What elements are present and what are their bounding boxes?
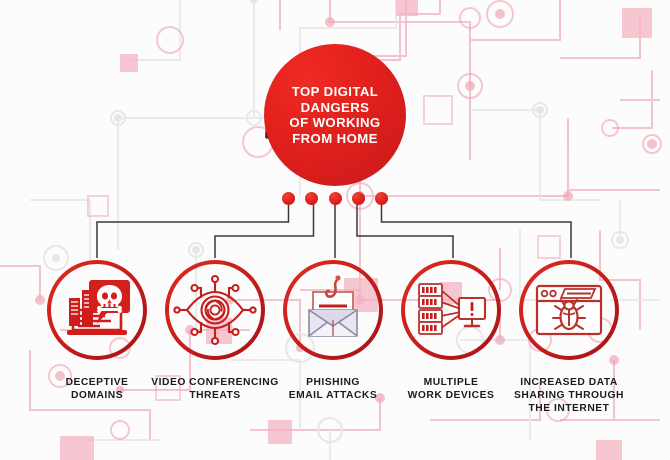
connector-line-4 bbox=[357, 203, 453, 258]
connector-dot-4 bbox=[352, 192, 365, 205]
node-video-conferencing-threats[interactable]: VIDEO CONFERENCING THREATS bbox=[163, 258, 267, 402]
connector-dot-3 bbox=[329, 192, 342, 205]
servers-monitor-alert-icon bbox=[419, 284, 485, 334]
eye-circuit-icon bbox=[179, 282, 251, 338]
connector-dot-5 bbox=[375, 192, 388, 205]
hero-title: TOP DIGITAL DANGERS OF WORKING FROM HOME bbox=[282, 84, 387, 146]
connector-line-1 bbox=[97, 203, 289, 258]
node-phishing-email-attacks[interactable]: PHISHING EMAIL ATTACKS bbox=[281, 258, 385, 402]
node-circle-3 bbox=[281, 258, 385, 362]
envelope-fishhook-icon bbox=[309, 275, 357, 336]
connector-line-5 bbox=[382, 203, 572, 258]
node-circle-2 bbox=[163, 258, 267, 362]
hero-circle: TOP DIGITAL DANGERS OF WORKING FROM HOME bbox=[264, 44, 406, 186]
node-circle-5 bbox=[517, 258, 621, 362]
hero-disc: TOP DIGITAL DANGERS OF WORKING FROM HOME bbox=[264, 44, 406, 186]
node-label-1: DECEPTIVE DOMAINS bbox=[45, 376, 149, 402]
hero-title-line-1: TOP DIGITAL bbox=[289, 84, 380, 100]
node-label-4: MULTIPLE WORK DEVICES bbox=[391, 376, 511, 402]
connector-dot-1 bbox=[282, 192, 295, 205]
connector-dot-2 bbox=[305, 192, 318, 205]
node-multiple-work-devices[interactable]: MULTIPLE WORK DEVICES bbox=[399, 258, 503, 402]
connector-line-2 bbox=[215, 203, 314, 258]
browser-bug-icon bbox=[537, 286, 601, 334]
node-label-5: INCREASED DATA SHARING THROUGH THE INTER… bbox=[499, 376, 639, 415]
connector-dot-row bbox=[282, 190, 388, 206]
hero-title-line-2: DANGERS bbox=[289, 100, 380, 116]
node-circle-1 bbox=[45, 258, 149, 362]
node-increased-data-sharing[interactable]: INCREASED DATA SHARING THROUGH THE INTER… bbox=[517, 258, 621, 415]
infographic-canvas: TOP DIGITAL DANGERS OF WORKING FROM HOME bbox=[0, 0, 670, 460]
node-deceptive-domains[interactable]: DECEPTIVE DOMAINS bbox=[45, 258, 149, 402]
laptop-skull-icon bbox=[67, 280, 130, 335]
node-label-3: PHISHING EMAIL ATTACKS bbox=[268, 376, 398, 402]
node-circle-4 bbox=[399, 258, 503, 362]
hero-title-line-4: FROM HOME bbox=[289, 131, 380, 147]
hero-title-line-3: OF WORKING bbox=[289, 115, 380, 131]
